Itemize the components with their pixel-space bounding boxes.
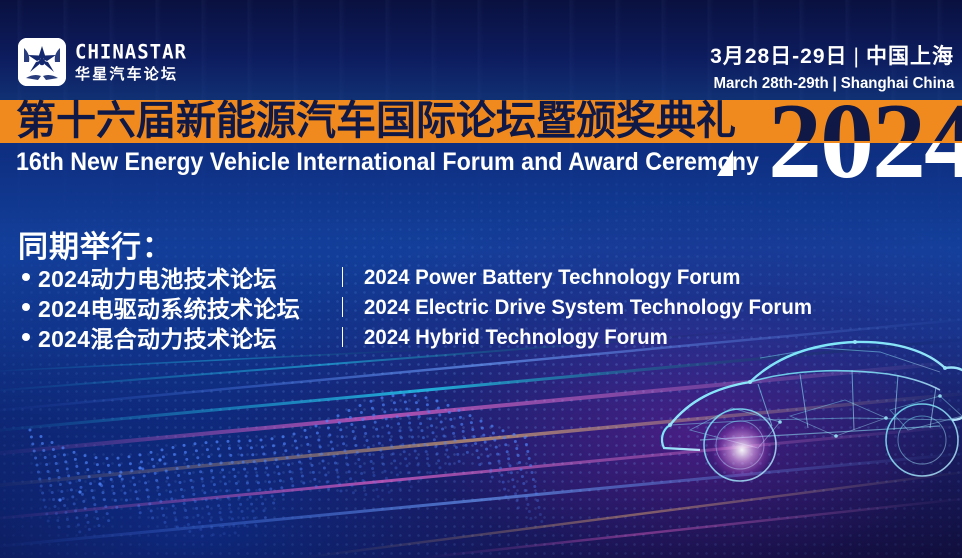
location-cn: 中国上海 xyxy=(866,45,954,68)
chinastar-emblem-icon xyxy=(18,38,66,86)
forum-name-cn: 2024混合动力技术论坛 xyxy=(38,320,277,354)
forum-name-en: 2024 Power Battery Technology Forum xyxy=(364,265,740,290)
wireframe-car-icon xyxy=(662,340,962,481)
page-title-cn: 第十六届新能源汽车国际论坛暨颁奖典礼 xyxy=(16,99,736,144)
bullet-icon xyxy=(22,273,30,281)
date-location-cn: 3月28日-29日|中国上海 xyxy=(706,40,954,70)
forum-name-cn: 2024动力电池技术论坛 xyxy=(38,260,277,294)
date-cn: 3月28日-29日 xyxy=(710,45,847,68)
event-date-location: 3月28日-29日|中国上海 March 28th-29th|Shanghai … xyxy=(706,40,954,93)
logo-name-en: CHINASTAR xyxy=(75,42,187,62)
forum-separator xyxy=(342,267,343,287)
page-title-en: 16th New Energy Vehicle International Fo… xyxy=(16,148,759,177)
headlight-glow xyxy=(712,420,772,480)
bullet-icon xyxy=(22,333,30,341)
forum-name-cn: 2024电驱动系统技术论坛 xyxy=(38,290,300,324)
event-banner: CHINASTAR 华星汽车论坛 3月28日-29日|中国上海 March 28… xyxy=(0,0,962,558)
forum-name-en: 2024 Electric Drive System Technology Fo… xyxy=(364,295,812,320)
logo-name-cn: 华星汽车论坛 xyxy=(75,67,187,82)
list-item[interactable]: 2024电驱动系统技术论坛 2024 Electric Drive System… xyxy=(22,292,300,322)
year-display: 2024 2024 xyxy=(768,88,962,196)
title-arrow-icon xyxy=(717,150,733,176)
forum-name-en: 2024 Hybrid Technology Forum xyxy=(364,325,668,350)
list-item[interactable]: 2024混合动力技术论坛 2024 Hybrid Technology Foru… xyxy=(22,322,300,352)
date-separator-cn: | xyxy=(848,45,866,68)
forum-separator xyxy=(342,327,343,347)
bullet-icon xyxy=(22,303,30,311)
dotted-wave-mesh xyxy=(29,394,544,538)
list-item[interactable]: 2024动力电池技术论坛 2024 Power Battery Technolo… xyxy=(22,262,300,292)
logo[interactable]: CHINASTAR 华星汽车论坛 xyxy=(18,38,187,86)
concurrent-forum-list: 2024动力电池技术论坛 2024 Power Battery Technolo… xyxy=(22,262,300,352)
forum-separator xyxy=(342,297,343,317)
